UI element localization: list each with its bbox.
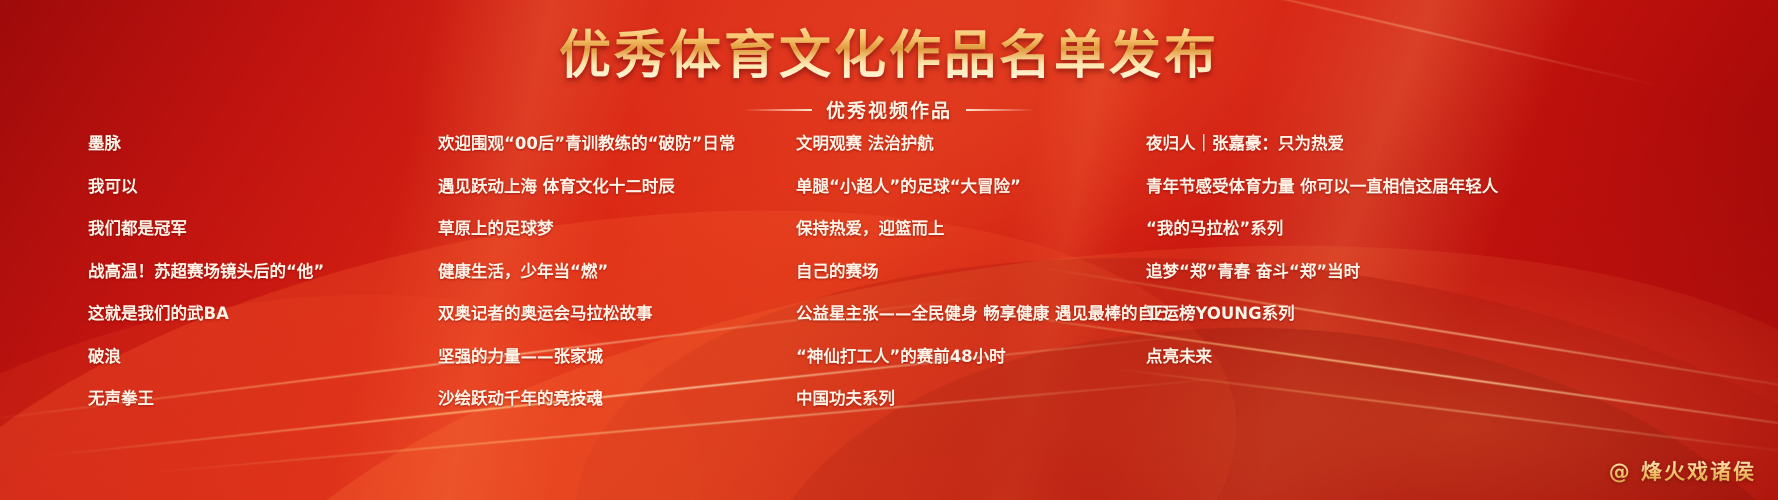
list-item: 自己的赛场 xyxy=(796,264,1146,281)
page-subtitle: 优秀视频作品 xyxy=(826,96,952,123)
list-item: 文明观赛 法治护航 xyxy=(796,136,1146,153)
column-2: 欢迎围观“00后”青训教练的“破防”日常 遇见跃动上海 体育文化十二时辰 草原上… xyxy=(438,136,796,434)
column-3: 文明观赛 法治护航 单腿“小超人”的足球“大冒险” 保持热爱，迎篮而上 自己的赛… xyxy=(796,136,1146,434)
list-item: 战高温！苏超赛场镜头后的“他” xyxy=(88,264,438,281)
list-item: 健康生活，少年当“燃” xyxy=(438,264,796,281)
list-item: 青年节感受体育力量 你可以一直相信这届年轻人 xyxy=(1146,179,1498,196)
subtitle-rule-right xyxy=(966,109,1034,111)
list-item: 遇见跃动上海 体育文化十二时辰 xyxy=(438,179,796,196)
list-item: 点亮未来 xyxy=(1146,349,1498,366)
list-item: “我的马拉松”系列 xyxy=(1146,221,1498,238)
list-item: 单腿“小超人”的足球“大冒险” xyxy=(796,179,1146,196)
list-item: 双奥记者的奥运会马拉松故事 xyxy=(438,306,796,323)
watermark: @ 烽火戏诸侯 xyxy=(1609,456,1756,486)
column-4: 夜归人｜张嘉豪：只为热爱 青年节感受体育力量 你可以一直相信这届年轻人 “我的马… xyxy=(1146,136,1498,434)
subtitle-rule-left xyxy=(744,109,812,111)
list-item: 追梦“郑”青春 奋斗“郑”当时 xyxy=(1146,264,1498,281)
list-item: 无声拳王 xyxy=(88,391,438,408)
subtitle-row: 优秀视频作品 xyxy=(0,96,1778,123)
poster-canvas: 优秀体育文化作品名单发布 优秀视频作品 墨脉 我可以 我们都是冠军 战高温！苏超… xyxy=(0,0,1778,500)
list-item: “神仙打工人”的赛前48小时 xyxy=(796,349,1146,366)
list-item: 坚强的力量——张家城 xyxy=(438,349,796,366)
list-item: 保持热爱，迎篮而上 xyxy=(796,221,1146,238)
column-1: 墨脉 我可以 我们都是冠军 战高温！苏超赛场镜头后的“他” 这就是我们的武BA … xyxy=(88,136,438,434)
list-item: 破浪 xyxy=(88,349,438,366)
list-item: 欢迎围观“00后”青训教练的“破防”日常 xyxy=(438,136,796,153)
list-item: 公益星主张——全民健身 畅享健康 遇见最棒的自己 xyxy=(796,306,1146,323)
list-item: 墨脉 xyxy=(88,136,438,153)
list-item: 草原上的足球梦 xyxy=(438,221,796,238)
list-item: 这就是我们的武BA xyxy=(88,306,438,323)
list-item: 亚运榜YOUNG系列 xyxy=(1146,306,1498,323)
list-item: 我们都是冠军 xyxy=(88,221,438,238)
list-item: 我可以 xyxy=(88,179,438,196)
poster-header: 优秀体育文化作品名单发布 优秀视频作品 xyxy=(0,0,1778,123)
page-title: 优秀体育文化作品名单发布 xyxy=(0,0,1778,84)
list-item: 中国功夫系列 xyxy=(796,391,1146,408)
entry-columns: 墨脉 我可以 我们都是冠军 战高温！苏超赛场镜头后的“他” 这就是我们的武BA … xyxy=(0,136,1778,434)
list-item: 沙绘跃动千年的竞技魂 xyxy=(438,391,796,408)
list-item: 夜归人｜张嘉豪：只为热爱 xyxy=(1146,136,1498,153)
